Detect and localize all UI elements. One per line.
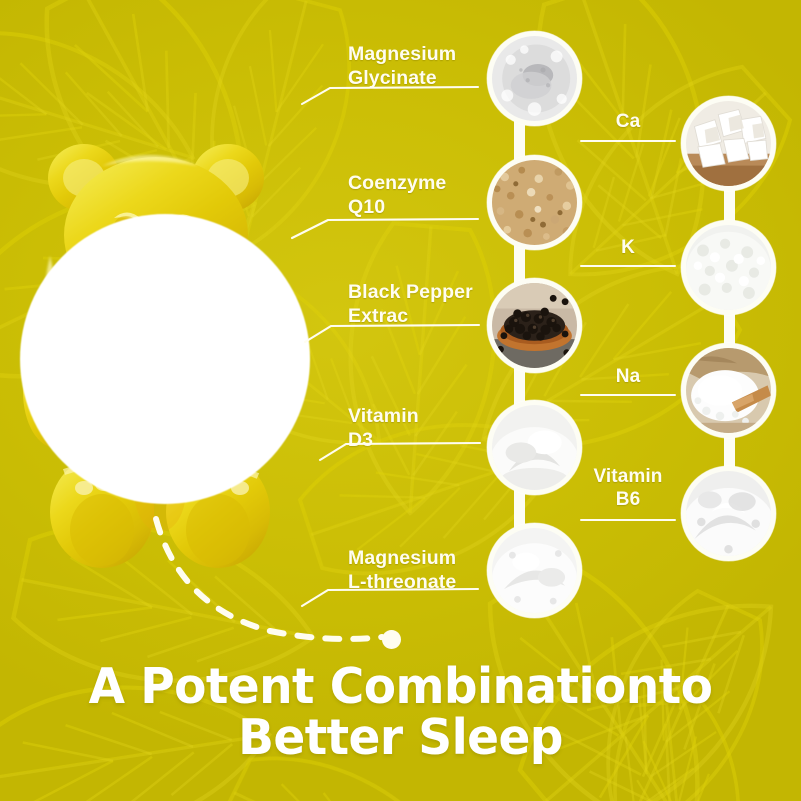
thumb-black-pepper-extract[interactable] — [487, 278, 582, 373]
rule-sodium — [580, 394, 676, 396]
label-potassium: K — [578, 236, 678, 259]
rule-calcium — [580, 140, 676, 142]
thumb-sodium[interactable] — [681, 343, 776, 438]
headline-line-1: A Potent Combinationto — [16, 662, 785, 713]
thumb-potassium[interactable] — [681, 220, 776, 315]
leader-line-black-pepper-extract — [303, 322, 481, 344]
rule-vitamin-b6 — [580, 519, 676, 521]
dashed-pointer-line — [150, 515, 400, 650]
thumb-vitamin-b6[interactable] — [681, 466, 776, 561]
leader-line-vitamin-d3 — [318, 440, 482, 462]
label-coenzyme-q10: Coenzyme Q10 — [348, 172, 488, 220]
hero-white-circle-backdrop — [20, 214, 310, 504]
label-sodium: Na — [578, 365, 678, 388]
thumb-coenzyme-q10[interactable] — [487, 155, 582, 250]
dashed-pointer-dot — [382, 630, 401, 649]
leader-line-magnesium-glycinate — [300, 84, 480, 106]
rule-potassium — [580, 265, 676, 267]
page-title: A Potent Combinationto Better Sleep — [16, 662, 785, 764]
thumb-magnesium-l-threonate[interactable] — [487, 523, 582, 618]
poster-canvas: Magnesium Glycinate Coenzyme Q10 Black P… — [0, 0, 801, 801]
thumb-magnesium-glycinate[interactable] — [487, 31, 582, 126]
label-calcium: Ca — [578, 110, 678, 133]
label-vitamin-b6: Vitamin B6 — [578, 465, 678, 511]
leader-line-coenzyme-q10 — [290, 214, 480, 240]
headline-line-2: Better Sleep — [16, 713, 785, 764]
thumb-calcium[interactable] — [681, 96, 776, 191]
thumb-vitamin-d3[interactable] — [487, 400, 582, 495]
